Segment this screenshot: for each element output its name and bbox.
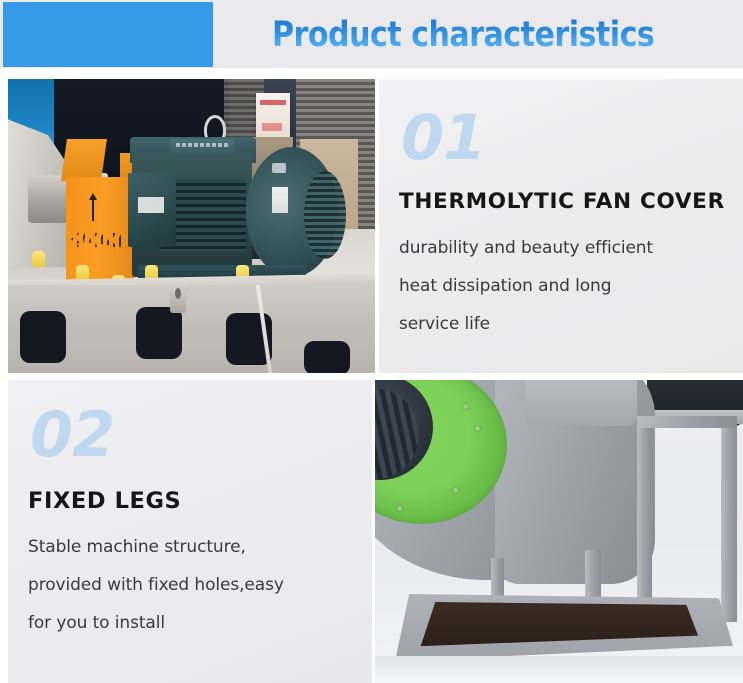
feature-02-body: Stable machine structure, provided with … [28, 528, 284, 642]
blower-outlet [525, 380, 637, 426]
base-access-hole [20, 311, 66, 363]
fixed-leg [637, 422, 652, 622]
floor-shadow [375, 656, 743, 683]
feature-01-body-line: heat dissipation and long [399, 267, 653, 305]
feature-01-body-line: durability and beauty efficient [399, 229, 653, 267]
fan-cover-grill [304, 171, 346, 259]
base-bracket [170, 281, 186, 313]
feature-01-body-line: service life [399, 305, 653, 343]
ring-screw [475, 426, 480, 431]
frame-cross-beam [637, 416, 737, 428]
feature-01-text-panel: 01 THERMOLYTIC FAN COVER durability and … [379, 79, 743, 373]
header-bar: Product characteristics [0, 0, 743, 68]
feature-02-heading: FIXED LEGS [28, 490, 181, 513]
page-title: Product characteristics [272, 12, 668, 58]
product-characteristics-infographic: Product characteristics [0, 0, 743, 683]
poster-stripe [260, 100, 286, 105]
feature-02-photo [375, 380, 743, 683]
feature-01-number: 01 [401, 107, 485, 169]
header-accent-block [3, 2, 213, 67]
fixed-leg [721, 416, 737, 622]
feature-02-body-line: for you to install [28, 604, 284, 642]
poster-stripe-lower [262, 123, 282, 131]
feature-02-number: 02 [30, 404, 114, 466]
impeller-blades [375, 388, 419, 480]
ring-screw [463, 404, 468, 409]
inlet-opening [375, 380, 433, 480]
feature-02-body-line: Stable machine structure, [28, 528, 284, 566]
base-access-hole [136, 307, 182, 359]
up-arrow-icon [92, 197, 94, 221]
motor-sticker [272, 187, 288, 213]
motor-brand-badge [272, 163, 286, 173]
feature-01-body: durability and beauty efficient heat dis… [399, 229, 653, 343]
junction-box-label [138, 197, 164, 213]
feature-02-body-line: provided with fixed holes,easy [28, 566, 284, 604]
motor-foot-bolt [32, 251, 45, 267]
ring-screw [453, 488, 458, 493]
base-access-hole [304, 341, 350, 373]
orange-guard-top [61, 139, 107, 181]
ring-screw [397, 506, 402, 511]
motor-nameplate-text [176, 143, 228, 147]
feature-01-heading: THERMOLYTIC FAN COVER [399, 191, 725, 213]
feature-01-photo [8, 79, 375, 373]
feature-02-text-panel: 02 FIXED LEGS Stable machine structure, … [8, 380, 372, 683]
